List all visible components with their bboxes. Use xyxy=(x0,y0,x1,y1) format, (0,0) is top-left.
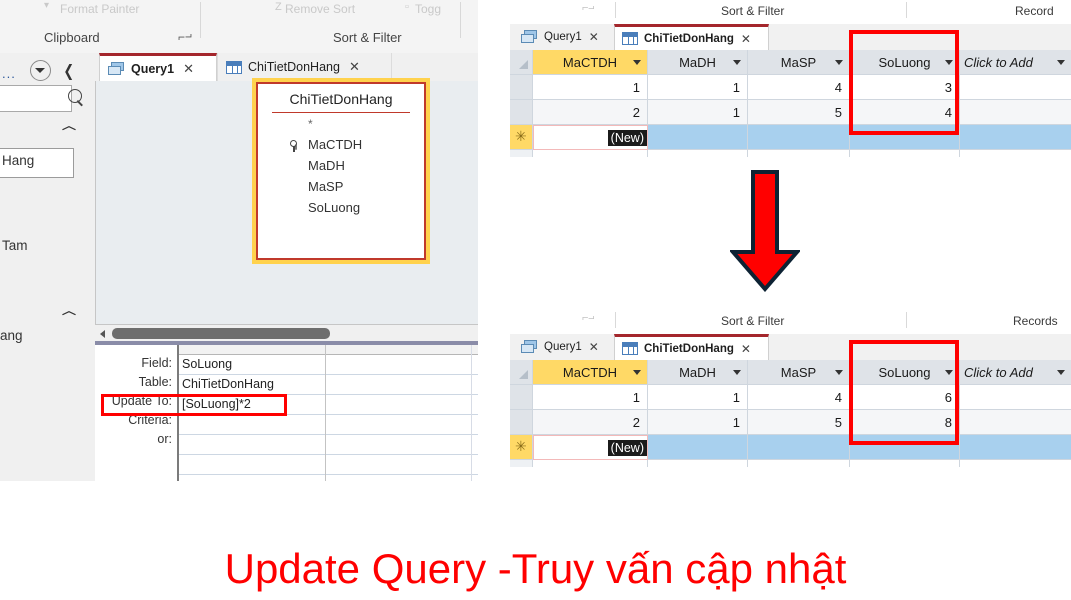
cell-madh[interactable]: 1 xyxy=(648,410,748,435)
chevron-down-icon[interactable] xyxy=(835,60,843,65)
datasheet-grid-after: MaCTDH MaDH MaSP SoLuong Click to Add 1 … xyxy=(510,360,1071,467)
query-icon xyxy=(108,62,125,76)
cell-masp[interactable]: 5 xyxy=(748,100,850,125)
field-list-chitietdonhang[interactable]: ChiTietDonHang * MaCTDH MaDH MaSP SoLuon… xyxy=(256,82,426,260)
close-icon[interactable]: ✕ xyxy=(741,342,751,356)
design-grid-row-or[interactable] xyxy=(179,435,478,455)
ribbon-group-records-after: Records xyxy=(1013,314,1058,328)
query-design-screenshot: Format Painter Remove Sort Togg ▾ Z ▫ Cl… xyxy=(0,0,478,481)
new-record-row[interactable]: ✳ (New) xyxy=(510,435,1071,460)
asterisk-icon: ✳ xyxy=(515,439,527,453)
tail-cell xyxy=(533,460,648,467)
new-row-selector[interactable]: ✳ xyxy=(510,435,533,460)
ribbon-group-sort-filter: Sort & Filter xyxy=(333,30,402,45)
column-header-mactdh[interactable]: MaCTDH xyxy=(533,50,648,75)
datasheet-header-row: MaCTDH MaDH MaSP SoLuong Click to Add xyxy=(510,50,1071,75)
column-header-masp-label: MaSP xyxy=(781,55,816,70)
tab-chitietdonhang-label: ChiTietDonHang xyxy=(248,60,340,74)
select-all-corner[interactable] xyxy=(510,50,533,75)
tail-cell xyxy=(748,460,850,467)
dialog-launcher-icon[interactable]: ⌐⌐ xyxy=(178,30,192,44)
nav-item-hang[interactable]: Hang xyxy=(2,153,34,168)
datasheet-after-update: ⌐⌐ Sort & Filter Records Query1 ✕ ChiTie… xyxy=(510,310,1071,467)
tab-query1[interactable]: Query1 ✕ xyxy=(514,334,614,360)
table-icon xyxy=(226,61,242,74)
cell-new-mactdh[interactable]: (New) xyxy=(533,125,648,150)
tail-cell xyxy=(960,460,1071,467)
new-record-label: (New) xyxy=(608,440,647,456)
highlight-soluong-column-before xyxy=(849,30,959,135)
cell-mactdh[interactable]: 2 xyxy=(533,100,648,125)
search-icon[interactable] xyxy=(68,89,82,103)
nav-group-chevron-2-icon[interactable]: ︿ xyxy=(62,303,76,318)
close-icon[interactable]: ✕ xyxy=(349,59,360,75)
document-tab-strip: Query1 ✕ ChiTietDonHang ✕ xyxy=(95,53,478,82)
chevron-down-icon[interactable] xyxy=(633,370,641,375)
datasheet-tab-strip-after: Query1 ✕ ChiTietDonHang ✕ xyxy=(510,334,1071,361)
dialog-launcher-icon[interactable]: ⌐⌐ xyxy=(582,312,595,324)
row-selector[interactable] xyxy=(510,75,533,100)
ribbon-group-sort-filter-after: Sort & Filter xyxy=(721,314,784,328)
tab-query1[interactable]: Query1 ✕ xyxy=(99,53,217,81)
column-header-masp[interactable]: MaSP xyxy=(748,50,850,75)
cell-masp[interactable]: 4 xyxy=(748,385,850,410)
cell-mactdh[interactable]: 1 xyxy=(533,75,648,100)
column-header-click-to-add-label: Click to Add xyxy=(964,55,1033,70)
primary-key-icon xyxy=(290,140,297,152)
cell-new-addnew xyxy=(960,435,1071,460)
cell-field-value[interactable]: SoLuong xyxy=(182,355,232,374)
chevron-down-icon[interactable] xyxy=(835,370,843,375)
cell-addnew xyxy=(960,410,1071,435)
cell-new-masp[interactable] xyxy=(748,125,850,150)
design-grid-row-table[interactable]: ChiTietDonHang xyxy=(179,375,478,395)
ghost-filter-icon: ▫ xyxy=(405,1,409,13)
datasheet-ribbon-strip-before: ⌐⌐ Sort & Filter Record xyxy=(510,0,1071,24)
nav-item-ang[interactable]: ang xyxy=(0,328,23,343)
field-list-item-star[interactable]: * xyxy=(258,113,424,134)
tab-query1-label: Query1 xyxy=(544,341,582,353)
column-header-masp-label: MaSP xyxy=(781,365,816,380)
chevron-down-icon[interactable] xyxy=(733,60,741,65)
datasheet-ribbon-strip-after: ⌐⌐ Sort & Filter Records xyxy=(510,310,1071,334)
highlight-update-to-box xyxy=(101,394,287,416)
row-selector[interactable] xyxy=(510,385,533,410)
chevron-down-icon[interactable] xyxy=(1057,60,1065,65)
ghost-caret-icon: ▾ xyxy=(44,0,49,11)
navigation-pane: ... ❮ ︿ Hang Tam ︿ ang xyxy=(0,53,97,481)
cell-new-addnew xyxy=(960,125,1071,150)
down-arrow-icon xyxy=(730,170,800,292)
field-list-item-soluong[interactable]: SoLuong xyxy=(258,197,424,218)
close-icon[interactable]: ✕ xyxy=(589,30,599,44)
close-icon[interactable]: ✕ xyxy=(183,61,194,77)
ghost-format-painter: Format Painter xyxy=(60,2,139,16)
field-list-item-mactdh-label: MaCTDH xyxy=(308,137,362,152)
column-header-click-to-add[interactable]: Click to Add xyxy=(960,50,1071,75)
table-icon xyxy=(622,32,638,45)
ribbon-divider-1 xyxy=(200,2,201,38)
horizontal-scrollbar[interactable] xyxy=(95,324,478,342)
scrollbar-thumb[interactable] xyxy=(112,328,330,339)
ribbon-group-sort-filter-before: Sort & Filter xyxy=(721,4,784,18)
cell-mactdh[interactable]: 2 xyxy=(533,410,648,435)
cell-addnew xyxy=(960,100,1071,125)
row-label-or: or: xyxy=(95,430,177,449)
field-list-title: ChiTietDonHang xyxy=(258,84,424,107)
tail-cell xyxy=(960,150,1071,157)
cell-masp[interactable]: 5 xyxy=(748,410,850,435)
nav-dropdown-icon[interactable] xyxy=(30,60,51,81)
table-row[interactable]: 1 1 4 3 xyxy=(510,75,1071,100)
cell-masp[interactable]: 4 xyxy=(748,75,850,100)
chevron-down-icon[interactable] xyxy=(633,60,641,65)
select-all-corner[interactable] xyxy=(510,360,533,385)
design-grid-row-field[interactable]: SoLuong xyxy=(179,355,478,375)
cell-madh[interactable]: 1 xyxy=(648,75,748,100)
query-icon xyxy=(521,340,538,354)
nav-collapse-icon[interactable]: ❮ xyxy=(63,61,74,81)
cell-addnew xyxy=(960,385,1071,410)
ribbon-group-record-before: Record xyxy=(1015,4,1054,18)
datasheet-tail xyxy=(510,150,1071,157)
tab-chitietdonhang-label: ChiTietDonHang xyxy=(644,33,734,45)
field-list-item-madh[interactable]: MaDH xyxy=(258,155,424,176)
tab-chitietdonhang[interactable]: ChiTietDonHang ✕ xyxy=(614,334,769,360)
design-grid-row-blank[interactable] xyxy=(179,455,478,475)
tail-cell xyxy=(648,150,748,157)
row-label-field: Field: xyxy=(95,354,177,373)
tail-selector xyxy=(510,460,533,467)
tail-cell xyxy=(850,460,960,467)
design-grid-column-divider-2 xyxy=(471,345,472,481)
cell-mactdh[interactable]: 1 xyxy=(533,385,648,410)
ribbon-divider-a xyxy=(615,2,616,18)
row-label-table: Table: xyxy=(95,373,177,392)
row-selector[interactable] xyxy=(510,100,533,125)
ribbon-divider-a xyxy=(615,312,616,328)
scroll-left-arrow-icon[interactable] xyxy=(97,327,110,340)
tab-chitietdonhang[interactable]: ChiTietDonHang ✕ xyxy=(217,53,392,81)
field-list-item-masp[interactable]: MaSP xyxy=(258,176,424,197)
field-list-item-mactdh[interactable]: MaCTDH xyxy=(258,134,424,155)
table-row[interactable]: 1 1 4 6 xyxy=(510,385,1071,410)
chevron-down-icon[interactable] xyxy=(1057,370,1065,375)
table-icon xyxy=(622,342,638,355)
datasheet-tab-strip-before: Query1 ✕ ChiTietDonHang ✕ xyxy=(510,24,1071,51)
close-icon[interactable]: ✕ xyxy=(589,340,599,354)
tail-cell xyxy=(850,150,960,157)
row-selector[interactable] xyxy=(510,410,533,435)
highlight-soluong-column-after xyxy=(849,340,959,445)
design-grid-row-criteria[interactable] xyxy=(179,415,478,435)
tab-query1-label: Query1 xyxy=(544,31,582,43)
column-header-madh-label: MaDH xyxy=(679,55,716,70)
cell-new-masp[interactable] xyxy=(748,435,850,460)
ghost-toggle: Togg xyxy=(415,2,441,16)
ribbon-group-clipboard: Clipboard xyxy=(44,30,100,45)
column-header-madh[interactable]: MaDH xyxy=(648,360,748,385)
nav-overflow-dots[interactable]: ... xyxy=(2,66,16,81)
query-upper-pane: ChiTietDonHang * MaCTDH MaDH MaSP SoLuon… xyxy=(95,81,478,324)
design-grid-column-divider-1 xyxy=(325,345,326,481)
column-header-mactdh-label: MaCTDH xyxy=(563,365,617,380)
tab-query1-label: Query1 xyxy=(131,62,174,76)
new-record-label: (New) xyxy=(608,130,647,146)
ghost-remove-sort: Remove Sort xyxy=(285,2,355,16)
ribbon-divider-2 xyxy=(460,2,461,38)
column-header-madh-label: MaDH xyxy=(679,365,716,380)
column-header-click-to-add[interactable]: Click to Add xyxy=(960,360,1071,385)
new-record-row[interactable]: ✳ (New) xyxy=(510,125,1071,150)
query-icon xyxy=(521,30,538,44)
cell-table-value[interactable]: ChiTietDonHang xyxy=(182,375,274,394)
nav-item-tam[interactable]: Tam xyxy=(2,238,28,253)
ribbon-divider-b xyxy=(906,2,907,18)
ribbon-strip: Format Painter Remove Sort Togg ▾ Z ▫ Cl… xyxy=(0,0,478,54)
close-icon[interactable]: ✕ xyxy=(741,32,751,46)
cell-addnew xyxy=(960,75,1071,100)
table-row[interactable]: 2 1 5 4 xyxy=(510,100,1071,125)
column-header-madh[interactable]: MaDH xyxy=(648,50,748,75)
tab-chitietdonhang[interactable]: ChiTietDonHang ✕ xyxy=(614,24,769,50)
nav-search-input[interactable] xyxy=(0,85,72,112)
datasheet-before-update: ⌐⌐ Sort & Filter Record Query1 ✕ ChiTiet… xyxy=(510,0,1071,157)
new-row-selector[interactable]: ✳ xyxy=(510,125,533,150)
tab-chitietdonhang-label: ChiTietDonHang xyxy=(644,343,734,355)
nav-group-chevron-1-icon[interactable]: ︿ xyxy=(62,118,76,133)
column-header-click-to-add-label: Click to Add xyxy=(964,365,1033,380)
design-grid-column-headers[interactable] xyxy=(179,345,478,355)
table-row[interactable]: 2 1 5 8 xyxy=(510,410,1071,435)
tail-cell xyxy=(748,150,850,157)
tail-cell xyxy=(533,150,648,157)
tail-cell xyxy=(648,460,748,467)
column-header-mactdh-label: MaCTDH xyxy=(563,55,617,70)
cell-new-madh[interactable] xyxy=(648,125,748,150)
datasheet-tail xyxy=(510,460,1071,467)
datasheet-grid-before: MaCTDH MaDH MaSP SoLuong Click to Add 1 … xyxy=(510,50,1071,157)
cell-new-mactdh[interactable]: (New) xyxy=(533,435,648,460)
cell-madh[interactable]: 1 xyxy=(648,385,748,410)
ghost-sort-icon: Z xyxy=(275,1,282,13)
datasheet-header-row: MaCTDH MaDH MaSP SoLuong Click to Add xyxy=(510,360,1071,385)
asterisk-icon: ✳ xyxy=(515,129,527,143)
column-header-mactdh[interactable]: MaCTDH xyxy=(533,360,648,385)
column-header-masp[interactable]: MaSP xyxy=(748,360,850,385)
tab-query1[interactable]: Query1 ✕ xyxy=(514,24,614,50)
cell-madh[interactable]: 1 xyxy=(648,100,748,125)
ribbon-divider-b xyxy=(906,312,907,328)
dialog-launcher-icon[interactable]: ⌐⌐ xyxy=(582,2,595,14)
chevron-down-icon[interactable] xyxy=(733,370,741,375)
tail-selector xyxy=(510,150,533,157)
cell-new-madh[interactable] xyxy=(648,435,748,460)
page-title: Update Query -Truy vấn cập nhật xyxy=(0,545,1071,593)
query-design-grid: Field: Table: Update To: Criteria: or: S… xyxy=(95,345,478,481)
